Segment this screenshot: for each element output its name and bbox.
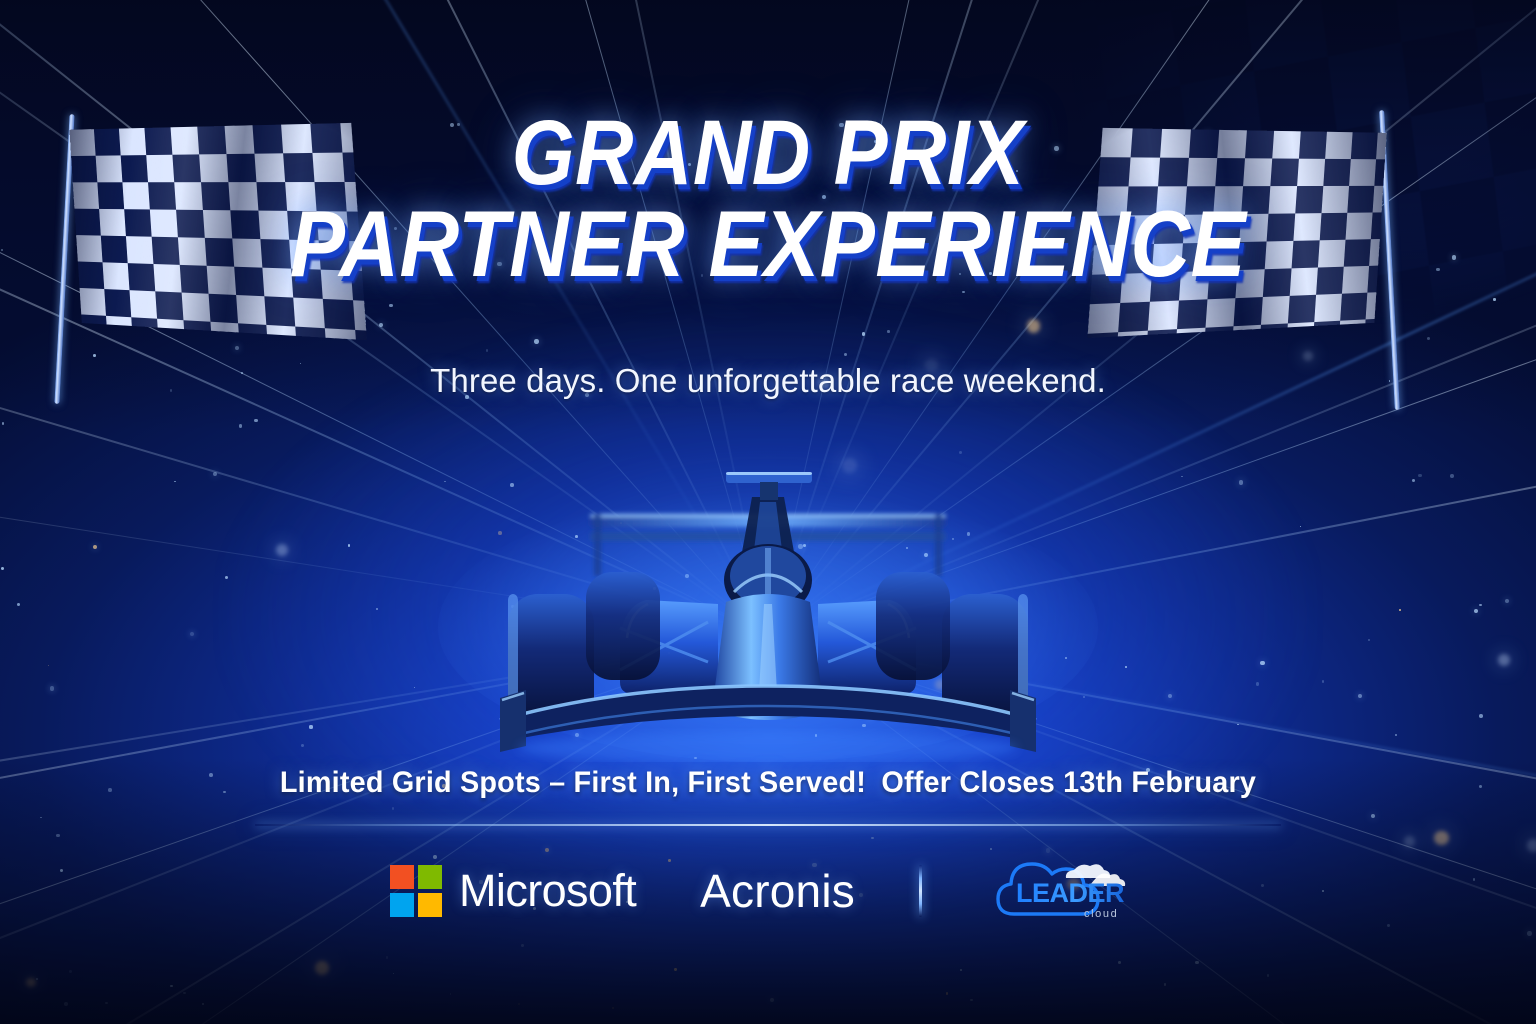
microsoft-square-orange	[390, 865, 414, 889]
headline-line-1: GRAND PRIX	[92, 108, 1444, 198]
acronis-logo[interactable]: Acronis	[700, 864, 855, 918]
microsoft-wordmark: Microsoft	[459, 865, 636, 917]
partner-logo-row: Microsoft Acronis	[0, 852, 1536, 930]
section-divider	[255, 824, 1281, 826]
page-title: GRAND PRIX PARTNER EXPERIENCE	[92, 108, 1444, 290]
headline-line-2: PARTNER EXPERIENCE	[92, 198, 1444, 290]
subtitle: Three days. One unforgettable race weeke…	[0, 362, 1536, 400]
microsoft-squares-icon	[390, 865, 442, 917]
promo-banner: GRAND PRIX PARTNER EXPERIENCE Three days…	[0, 0, 1536, 1024]
leader-wordmark-text: LEADER	[1016, 878, 1124, 908]
offer-callout-left: Limited Grid Spots – First In, First Ser…	[280, 766, 866, 799]
offer-callout: Limited Grid Spots – First In, First Ser…	[31, 766, 1506, 800]
leader-tagline-text: cloud	[1084, 908, 1118, 920]
microsoft-square-blue	[390, 893, 414, 917]
vertical-divider-icon	[919, 865, 922, 917]
microsoft-square-yellow	[418, 893, 442, 917]
microsoft-square-green	[418, 865, 442, 889]
offer-callout-right: Offer Closes 13th February	[881, 766, 1256, 799]
leader-cloud-logo[interactable]: LEADER cloud	[986, 852, 1146, 930]
microsoft-logo[interactable]: Microsoft	[390, 865, 636, 917]
